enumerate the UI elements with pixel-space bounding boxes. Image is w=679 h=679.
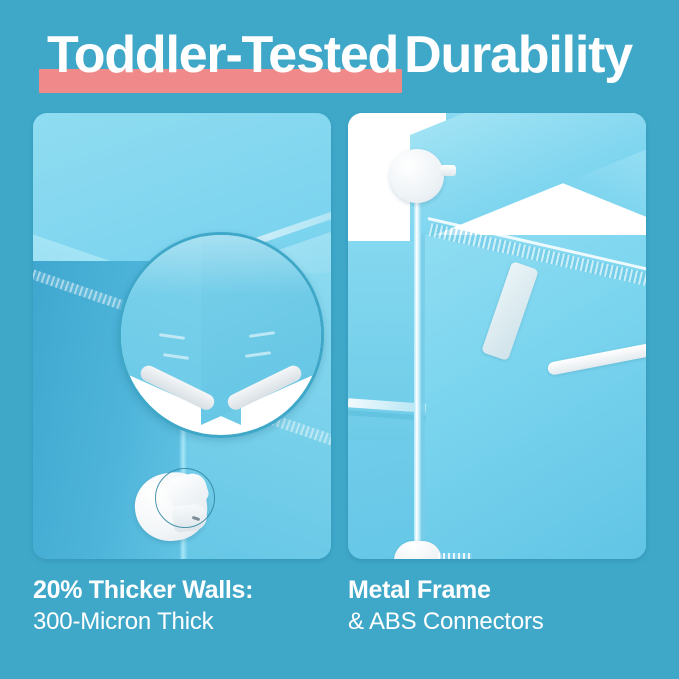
headline-banner: Toddler-TestedDurability <box>0 14 679 96</box>
inset-connector-v <box>149 363 293 433</box>
frame-end-cap-top <box>390 149 444 203</box>
caption-title: 20% Thicker Walls: <box>33 575 331 606</box>
feature-captions: 20% Thicker Walls: 300-Micron Thick Meta… <box>33 575 646 637</box>
caption-metal-frame: Metal Frame & ABS Connectors <box>348 575 646 637</box>
infographic-root: Toddler-TestedDurability <box>0 0 679 679</box>
panel-thicker-walls <box>33 113 331 559</box>
headline-emphasis: Toddler-Tested <box>47 26 398 84</box>
magnifier-inset-circle <box>118 232 324 438</box>
magnifier-source-circle <box>155 468 215 528</box>
panel-metal-frame <box>348 113 646 559</box>
frame-end-cap-nub <box>440 165 456 176</box>
headline-rest: Durability <box>404 26 632 84</box>
metal-frame-vertical-rod <box>414 173 421 559</box>
panel-vertical-seam <box>421 235 425 559</box>
caption-subtitle: 300-Micron Thick <box>33 606 331 637</box>
caption-thicker-walls: 20% Thicker Walls: 300-Micron Thick <box>33 575 331 637</box>
caption-title: Metal Frame <box>348 575 646 606</box>
caption-subtitle: & ABS Connectors <box>348 606 646 637</box>
page-title: Toddler-TestedDurability <box>47 26 632 84</box>
feature-panels <box>33 113 646 559</box>
frame-base-ribs <box>438 553 472 559</box>
headline-inner: Toddler-TestedDurability <box>47 29 632 81</box>
inset-top-highlight <box>121 235 321 295</box>
